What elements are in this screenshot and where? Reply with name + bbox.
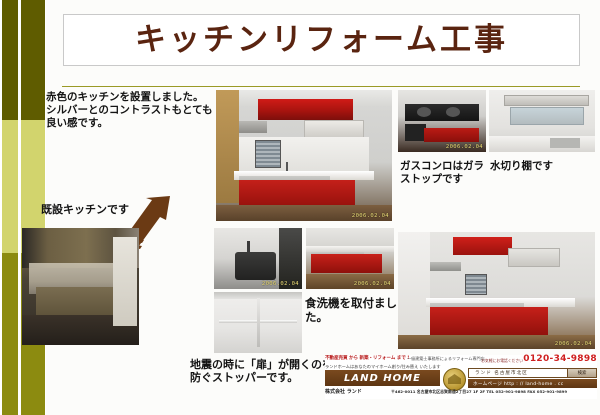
sidebar-band-light-lime <box>2 120 18 253</box>
footer-tagline-red: 不動産売買 から 新築・リフォーム まで ! <box>325 355 409 361</box>
title-box: キッチンリフォーム工事 <box>63 14 580 66</box>
footer-company-name: 株式会社 ランド <box>325 388 362 395</box>
caption-drain-shelf: 水切り棚です <box>490 160 570 173</box>
footer-website-url[interactable]: ホームページ http : // land-home . cc <box>468 379 597 388</box>
footer-phone-number[interactable]: 0120-34-9898 <box>523 354 597 364</box>
footer-tel-prefix: お気軽にお電話ください <box>481 358 523 364</box>
sidebar-band-mid-olive <box>2 253 18 415</box>
photo-timestamp: 2006.02.04 <box>354 281 391 287</box>
photo-existing-kitchen <box>22 228 139 345</box>
sidebar-decoration <box>0 0 46 415</box>
sidebar-wideband-dark-olive <box>21 0 45 120</box>
caption-door-stopper: 地震の時に「扉」が開くのを防ぐストッパーです。 <box>190 358 340 385</box>
page-title: キッチンリフォーム工事 <box>135 25 508 56</box>
footer-tagline-gray: 一級建築士事務所にょるリフォーム専門店 <box>407 356 485 362</box>
photo-sink-closeup: 2006.02.04 <box>214 228 302 289</box>
footer-ad-banner: 不動産売買 から 新築・リフォーム まで ! 一級建築士事務所にょるリフォーム専… <box>325 355 597 399</box>
footer-logo-text: LAND HOME <box>325 370 440 386</box>
photo-new-kitchen-main: 2006.02.04 <box>216 90 392 221</box>
caption-main: 赤色のキッチンを設置しました。 シルバーとのコントラストもとても良い感です。 <box>46 91 216 129</box>
slide-canvas: キッチンリフォーム工事 赤色のキッチンを設置しました。 シルバーとのコントラスト… <box>0 0 600 415</box>
photo-timestamp: 2006.02.04 <box>352 213 389 219</box>
search-button[interactable]: 検索 <box>567 369 596 377</box>
photo-timestamp: 2006.02.04 <box>446 144 483 150</box>
footer-address: 〒462-0011 名古屋市北区志賀南通2丁目27 1F 2F TEL 052-… <box>391 389 567 395</box>
caption-dishwasher: 食洗機を取付ました。 <box>305 296 400 324</box>
photo-gas-cooktop: 2006.02.04 <box>398 90 486 152</box>
photo-drain-shelf <box>489 90 595 152</box>
photo-red-cabinet-run: 2006.02.04 <box>306 228 394 289</box>
search-input[interactable]: ランド 名古屋市北区 <box>469 370 567 376</box>
photo-timestamp: 2006.02.04 <box>555 341 592 347</box>
footer-search-box[interactable]: ランド 名古屋市北区 検索 <box>468 368 597 378</box>
footer-tagline-row: 不動産売買 から 新築・リフォーム まで ! 一級建築士事務所にょるリフォーム専… <box>325 355 597 364</box>
sidebar-band-dark-olive <box>2 0 18 120</box>
title-divider-rule <box>62 86 580 87</box>
photo-timestamp: 2006.02.04 <box>262 281 299 287</box>
footer-seal-icon <box>443 368 466 391</box>
photo-new-kitchen-wide: 2006.02.04 <box>398 232 595 349</box>
photo-door-stopper-shelf <box>214 292 302 353</box>
caption-gas-cooktop: ガスコンロはガラストップです <box>400 160 485 186</box>
